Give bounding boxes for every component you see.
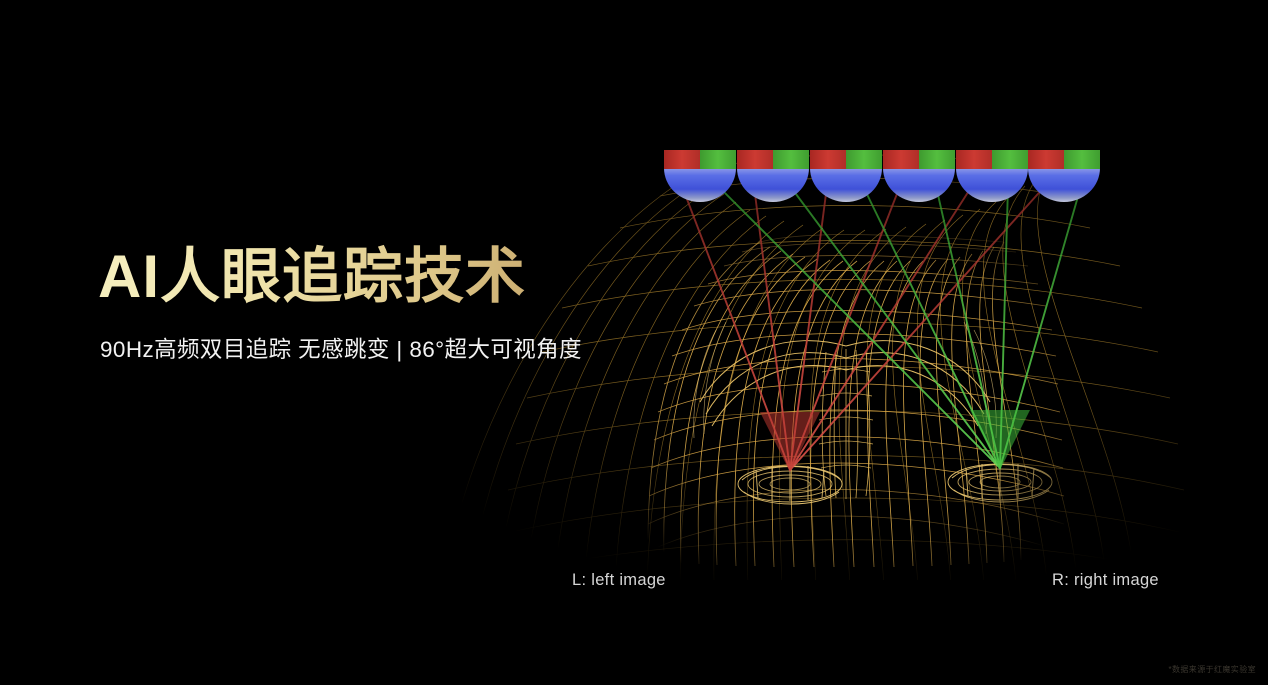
caption-left-image: L: left image <box>572 571 666 590</box>
slide-canvas: AI人眼追踪技术 90Hz高频双目追踪 无感跳变 | 86°超大可视角度 L: … <box>0 0 1268 685</box>
page-title: AI人眼追踪技术 <box>98 243 658 310</box>
footnote-disclaimer: *数据来源于红魔实验室 <box>1168 664 1256 675</box>
caption-right-image: R: right image <box>1052 571 1159 590</box>
page-subtitle: 90Hz高频双目追踪 无感跳变 | 86°超大可视角度 <box>100 332 658 364</box>
headline-block: AI人眼追踪技术 90Hz高频双目追踪 无感跳变 | 86°超大可视角度 <box>98 243 658 364</box>
